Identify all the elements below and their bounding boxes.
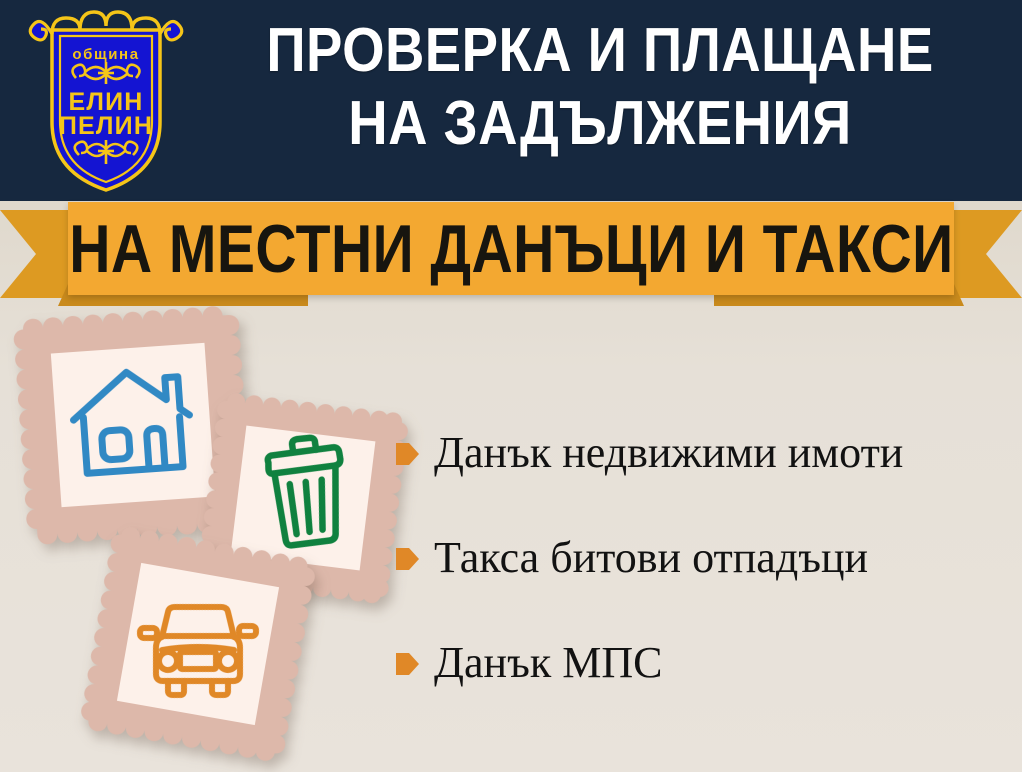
ribbon-label: НА МЕСТНИ ДАНЪЦИ И ТАКСИ <box>69 215 953 283</box>
arrow-bullet-icon <box>396 441 419 467</box>
stamp-card-car <box>75 521 321 767</box>
list-item[interactable]: Такса битови отпадъци <box>396 529 1016 587</box>
arrow-bullet-icon <box>396 546 419 572</box>
stamp-paper <box>51 343 215 507</box>
page-title: ПРОВЕРКА И ПЛАЩАНЕ НА ЗАДЪЛЖЕНИЯ <box>237 14 962 160</box>
obligations-list: Данък недвижими имоти Такса битови отпад… <box>396 424 1016 739</box>
list-item-label: Данък МПС <box>434 638 662 688</box>
list-item[interactable]: Данък недвижими имоти <box>396 424 1016 482</box>
emblem-small-label: община <box>72 46 139 63</box>
municipality-emblem: община ЕЛИН ПЕЛИН <box>22 4 190 196</box>
ribbon-band: НА МЕСТНИ ДАНЪЦИ И ТАКСИ <box>68 202 954 295</box>
list-item-label: Данък недвижими имоти <box>434 428 903 478</box>
list-item-label: Такса битови отпадъци <box>434 533 868 583</box>
ribbon-banner: НА МЕСТНИ ДАНЪЦИ И ТАКСИ <box>0 198 1022 310</box>
poster-root: ПРОВЕРКА И ПЛАЩАНЕ НА ЗАДЪЛЖЕНИЯ община <box>0 0 1022 772</box>
list-item[interactable]: Данък МПС <box>396 634 1016 692</box>
stamp-collage <box>0 300 420 772</box>
arrow-bullet-icon <box>396 651 419 677</box>
emblem-line-2: ПЕЛИН <box>59 112 153 140</box>
